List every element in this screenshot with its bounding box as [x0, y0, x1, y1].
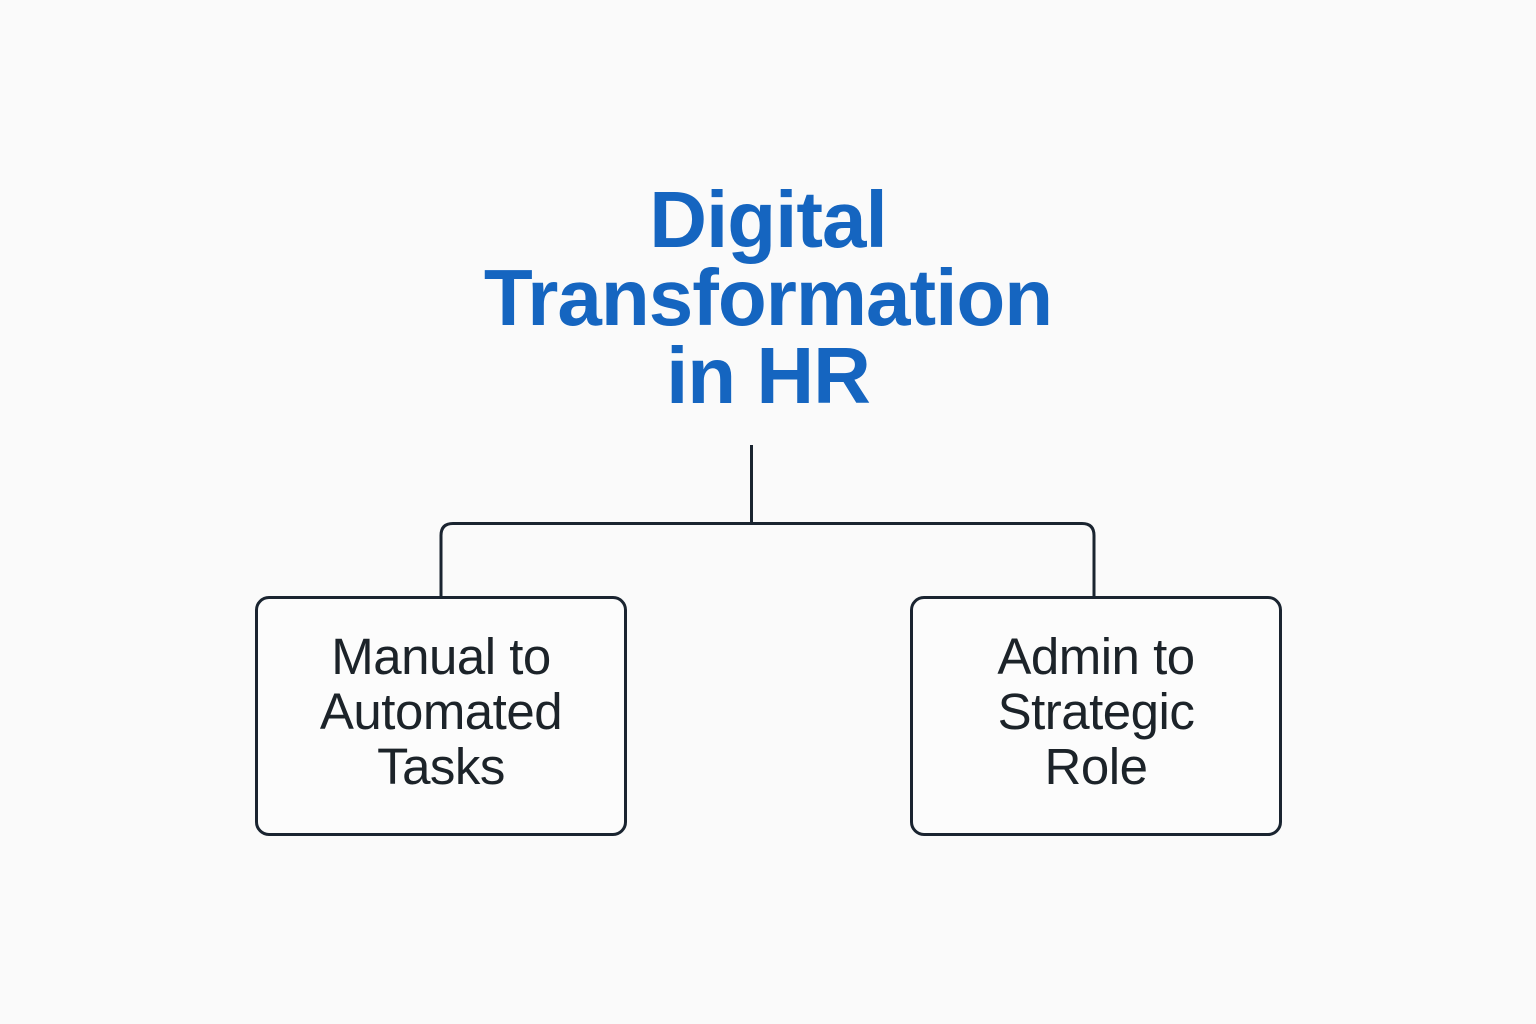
diagram-canvas: Digital Transformation in HR Manual to A…: [0, 0, 1536, 1024]
node-label-manual-to-automated-tasks: Manual to Automated Tasks: [258, 629, 624, 794]
node-admin-to-strategic-role[interactable]: Admin to Strategic Role: [910, 596, 1282, 836]
node-label-admin-to-strategic-role: Admin to Strategic Role: [913, 629, 1279, 794]
connector-layer: [0, 0, 1536, 1024]
root-node-title: Digital Transformation in HR: [468, 181, 1068, 415]
node-manual-to-automated-tasks[interactable]: Manual to Automated Tasks: [255, 596, 627, 836]
connector-edge-to-admin-to-strategic-role: [752, 524, 1095, 597]
connector-edge-to-manual-to-automated-tasks: [441, 524, 752, 597]
